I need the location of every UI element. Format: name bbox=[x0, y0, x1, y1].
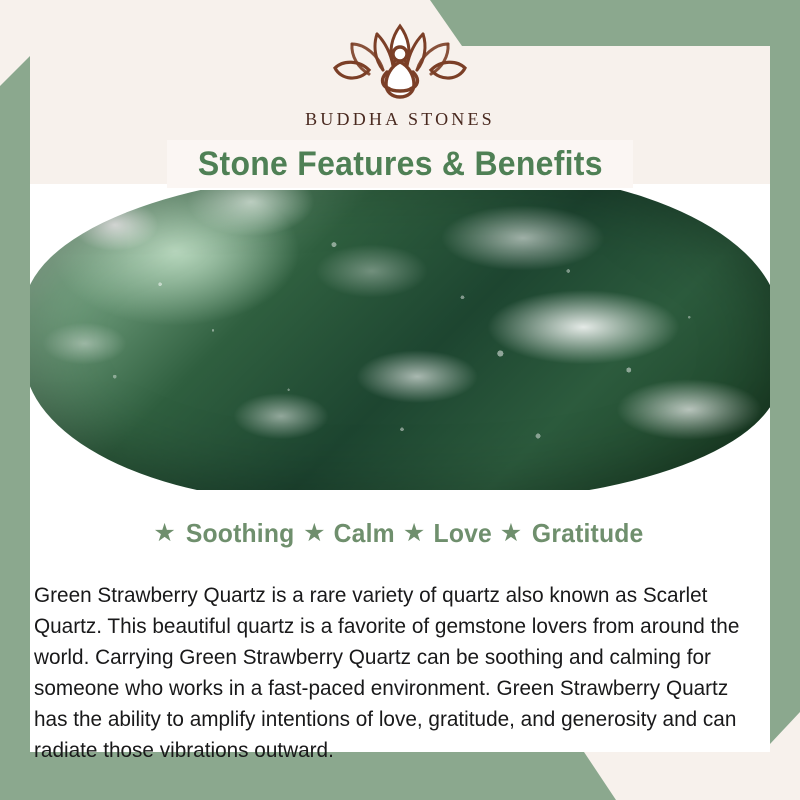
keyword-item: ★ Calm bbox=[303, 518, 397, 549]
keyword-item: ★ Soothing bbox=[153, 518, 297, 549]
lotus-meditation-icon bbox=[325, 22, 475, 106]
keyword-item: ★ Gratitude bbox=[500, 518, 647, 549]
stone-image bbox=[30, 190, 770, 490]
keyword-label: Gratitude bbox=[532, 518, 644, 549]
brand-name: BUDDHA STONES bbox=[0, 109, 800, 130]
keyword-label: Love bbox=[434, 518, 492, 549]
star-icon: ★ bbox=[303, 521, 325, 546]
infographic-page: BUDDHA STONES Stone Features & Benefits … bbox=[0, 0, 800, 800]
star-icon: ★ bbox=[153, 521, 175, 546]
keyword-list: ★ Soothing ★ Calm ★ Love ★ Gratitude bbox=[30, 518, 770, 549]
keyword-label: Soothing bbox=[186, 518, 295, 549]
keyword-label: Calm bbox=[334, 518, 395, 549]
keyword-item: ★ Love bbox=[403, 518, 494, 549]
star-icon: ★ bbox=[500, 521, 522, 546]
star-icon: ★ bbox=[403, 521, 425, 546]
stone-photo: Green Strawberry Quartz bbox=[30, 190, 770, 490]
title-banner: Stone Features & Benefits bbox=[167, 140, 633, 188]
page-title: Stone Features & Benefits bbox=[198, 145, 603, 184]
description-text: Green Strawberry Quartz is a rare variet… bbox=[34, 580, 756, 766]
brand-logo: BUDDHA STONES bbox=[0, 22, 800, 130]
stone-inclusions bbox=[30, 190, 770, 490]
